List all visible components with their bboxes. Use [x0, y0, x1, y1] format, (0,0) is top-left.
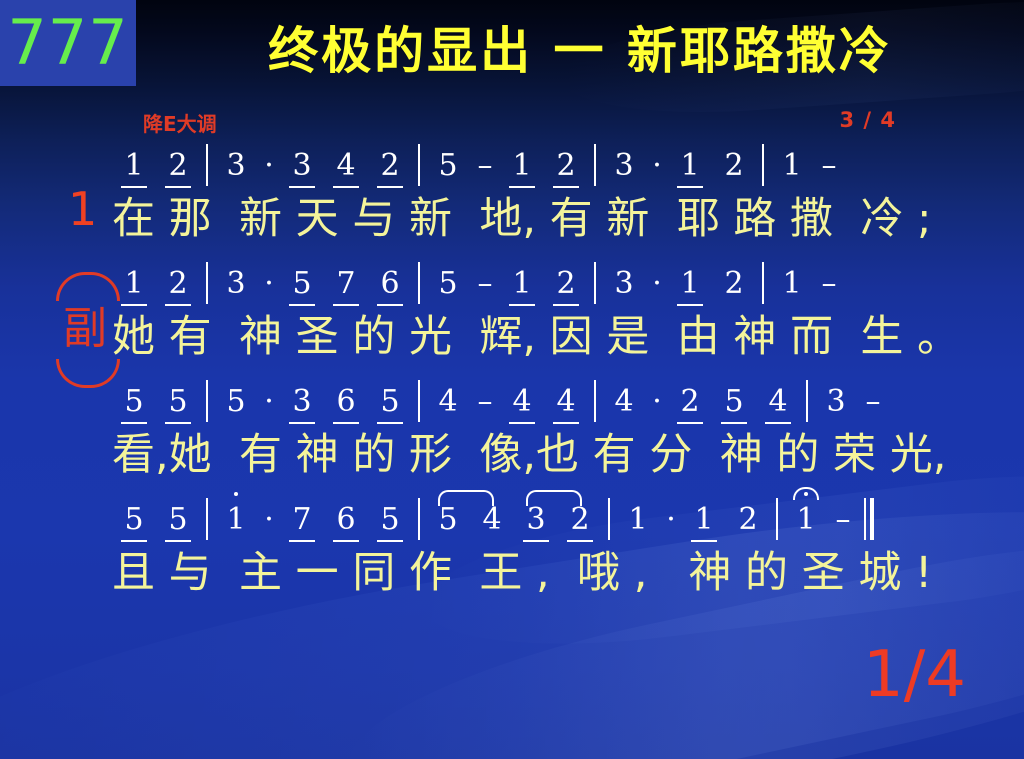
note: 2	[558, 505, 602, 542]
note: 5	[426, 151, 470, 188]
augmentation-dot: ·	[660, 505, 682, 542]
note: 1	[214, 505, 258, 542]
lyric-line: 在 那 新 天 与 新 地, 有 新 耶 路 撒 冷 ;	[112, 184, 962, 246]
note-sustain-dash: –	[470, 151, 500, 188]
note: 2	[544, 269, 588, 306]
verse-number: 1	[68, 186, 97, 232]
note: 6	[324, 505, 368, 542]
note: 2	[544, 151, 588, 188]
barline	[206, 498, 208, 540]
note: 1	[500, 151, 544, 188]
notation-line: 555·3654–444·2543–	[112, 376, 962, 424]
note: 5	[214, 387, 258, 424]
lyric-line: 看,她 有 神 的 形 像,也 有 分 神 的 荣 光,	[112, 420, 962, 482]
music-system: 123·5765–123·121–她 有 神 圣 的 光 辉, 因 是 由 神 …	[0, 258, 1024, 376]
note: 4	[426, 387, 470, 424]
notation-line: 123·5765–123·121–	[112, 258, 962, 306]
note: 4	[470, 505, 514, 542]
note: 4	[602, 387, 646, 424]
augmentation-dot: ·	[258, 151, 280, 188]
note: 5	[368, 387, 412, 424]
note: 3	[280, 151, 324, 188]
note-sustain-dash: –	[858, 387, 888, 424]
note: 4	[500, 387, 544, 424]
note: 5	[156, 505, 200, 542]
note-sustain-dash: –	[470, 387, 500, 424]
hymn-number: 777	[7, 12, 128, 74]
note: 1	[784, 505, 828, 542]
note: 6	[368, 269, 412, 306]
augmentation-dot: ·	[646, 151, 668, 188]
note: 4	[324, 151, 368, 188]
note: 5	[426, 269, 470, 306]
barline	[762, 262, 764, 304]
hymn-number-badge: 777	[0, 0, 136, 86]
barline	[206, 380, 208, 422]
lyric-line: 她 有 神 圣 的 光 辉, 因 是 由 神 而 生 。	[112, 302, 962, 364]
music-system: 551·76554321·121–且 与 主 一 同 作 王 , 哦 , 神 的…	[0, 494, 1024, 612]
lyric-line: 且 与 主 一 同 作 王 , 哦 , 神 的 圣 城 !	[112, 538, 962, 600]
barline	[594, 262, 596, 304]
note: 1	[682, 505, 726, 542]
note: 4	[544, 387, 588, 424]
note: 2	[156, 151, 200, 188]
note: 7	[324, 269, 368, 306]
note: 1	[770, 269, 814, 306]
time-signature: 3 / 4	[839, 108, 896, 132]
note-sustain-dash: –	[470, 269, 500, 306]
barline	[806, 380, 808, 422]
note: 5	[712, 387, 756, 424]
slur-icon	[526, 490, 582, 506]
barline	[594, 144, 596, 186]
note: 4	[756, 387, 800, 424]
note: 2	[712, 269, 756, 306]
note: 2	[712, 151, 756, 188]
augmentation-dot: ·	[646, 387, 668, 424]
note: 5	[156, 387, 200, 424]
barline	[418, 262, 420, 304]
note: 3	[602, 269, 646, 306]
note: 3	[214, 151, 258, 188]
note: 1	[112, 269, 156, 306]
slur-icon	[438, 490, 494, 506]
final-barline	[864, 498, 874, 540]
note: 2	[368, 151, 412, 188]
augmentation-dot: ·	[646, 269, 668, 306]
note: 1	[770, 151, 814, 188]
note: 3	[514, 505, 558, 542]
note: 1	[112, 151, 156, 188]
note: 2	[726, 505, 770, 542]
note-sustain-dash: –	[814, 269, 844, 306]
augmentation-dot: ·	[258, 269, 280, 306]
note: 5	[368, 505, 412, 542]
barline	[418, 498, 420, 540]
note: 6	[324, 387, 368, 424]
note: 3	[214, 269, 258, 306]
note-sustain-dash: –	[814, 151, 844, 188]
music-system: 555·3654–444·2543–看,她 有 神 的 形 像,也 有 分 神 …	[0, 376, 1024, 494]
key-signature: 降E大调	[143, 108, 217, 137]
barline	[206, 262, 208, 304]
note: 3	[602, 151, 646, 188]
note: 5	[112, 505, 156, 542]
note-sustain-dash: –	[828, 505, 858, 542]
note: 5	[280, 269, 324, 306]
augmentation-dot: ·	[258, 387, 280, 424]
barline	[776, 498, 778, 540]
note: 2	[668, 387, 712, 424]
music-staff-area: 1123·3425–123·121–在 那 新 天 与 新 地, 有 新 耶 路…	[0, 140, 1024, 612]
barline	[206, 144, 208, 186]
barline	[608, 498, 610, 540]
note: 5	[112, 387, 156, 424]
barline	[762, 144, 764, 186]
note: 1	[500, 269, 544, 306]
hymn-slide: 777 终极的显出 一 新耶路撒冷 降E大调 3 / 4 副 1123·3425…	[0, 0, 1024, 759]
note: 3	[280, 387, 324, 424]
barline	[418, 144, 420, 186]
note: 1	[668, 269, 712, 306]
barline	[418, 380, 420, 422]
barline	[594, 380, 596, 422]
music-system: 1123·3425–123·121–在 那 新 天 与 新 地, 有 新 耶 路…	[0, 140, 1024, 258]
note: 7	[280, 505, 324, 542]
note: 1	[616, 505, 660, 542]
note: 1	[668, 151, 712, 188]
note: 5	[426, 505, 470, 542]
notation-line: 123·3425–123·121–	[112, 140, 962, 188]
octave-up-dot-icon	[234, 492, 238, 496]
page-title: 终极的显出 一 新耶路撒冷	[136, 24, 1024, 78]
note: 2	[156, 269, 200, 306]
notation-line: 551·76554321·121–	[112, 494, 962, 542]
page-indicator: 1/4	[863, 643, 966, 707]
note: 3	[814, 387, 858, 424]
augmentation-dot: ·	[258, 505, 280, 542]
